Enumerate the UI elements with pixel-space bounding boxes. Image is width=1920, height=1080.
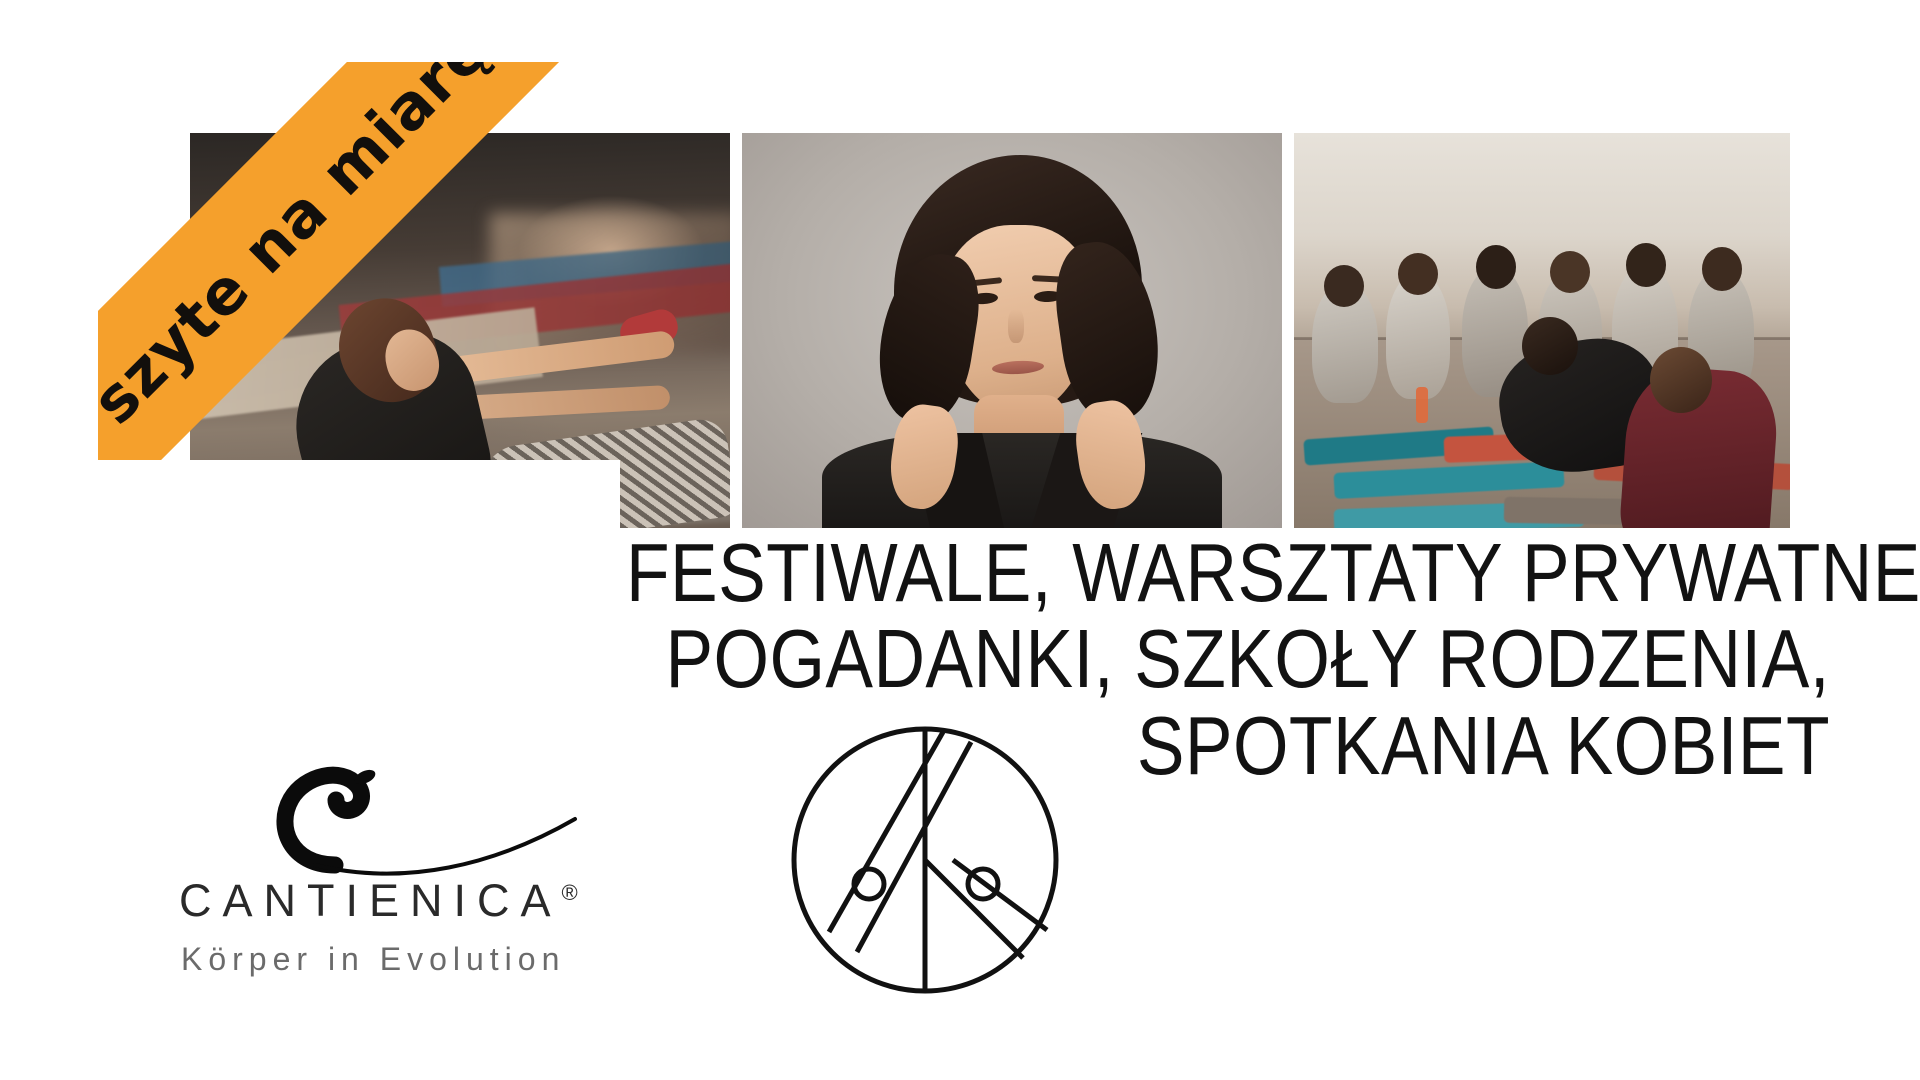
photo-3-head-1 bbox=[1324, 265, 1364, 307]
photo-3-instructor-head bbox=[1522, 317, 1578, 375]
photo-3-head-6 bbox=[1702, 247, 1742, 291]
cantienica-circle-emblem-icon bbox=[785, 720, 1065, 1000]
photo-portrait-instructor bbox=[742, 133, 1282, 528]
cantienica-logo: CANTIENICA® Körper in Evolution bbox=[165, 715, 665, 995]
headline-line-2: POGADANKI, SZKOŁY RODZENIA, bbox=[626, 616, 1830, 702]
registered-mark: ® bbox=[562, 880, 578, 905]
photo-3-head-5 bbox=[1626, 243, 1666, 287]
wordmark-text: CANTIENICA bbox=[179, 875, 562, 926]
photo-pilates-mat-class bbox=[190, 133, 730, 528]
ribbon-mask-left bbox=[0, 0, 98, 600]
cantienica-wordmark: CANTIENICA® bbox=[179, 875, 578, 927]
photo-2-nose bbox=[1008, 309, 1024, 343]
photo-3-bottle-orange bbox=[1416, 387, 1428, 423]
cantienica-tagline: Körper in Evolution bbox=[181, 941, 565, 978]
photo-2-jacket bbox=[822, 433, 1222, 528]
ribbon-mask-top bbox=[0, 0, 620, 62]
ribbon-fold-top-icon bbox=[497, 62, 555, 120]
ribbon-fold-bottom-icon bbox=[98, 402, 156, 460]
photo-3-head-2 bbox=[1398, 253, 1438, 295]
photo-strip bbox=[190, 133, 1790, 528]
cantienica-swoosh-icon bbox=[165, 715, 625, 885]
photo-3-head-4 bbox=[1550, 251, 1590, 293]
photo-3-head-3 bbox=[1476, 245, 1516, 289]
headline-line-1: FESTIWALE, WARSZTATY PRYWATNE, bbox=[626, 530, 1830, 616]
photo-group-workshop bbox=[1294, 133, 1790, 528]
poster-canvas: szyte na miarę FESTIWALE, WARSZTATY PRYW… bbox=[0, 0, 1920, 1080]
photo-3-foreground-head bbox=[1650, 347, 1712, 413]
